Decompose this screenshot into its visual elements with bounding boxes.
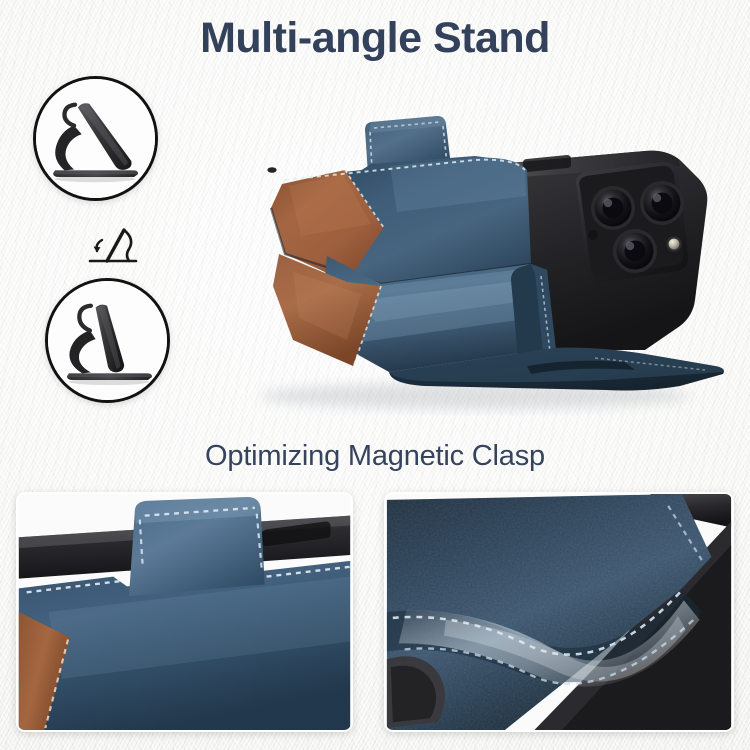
stand-angle-upright-icon [48,281,167,400]
rotation-arrow-glyph [84,224,146,270]
section-subtitle: Optimizing Magnetic Clasp [0,440,750,473]
clasp-tab [129,497,265,596]
leather-grain-detail-panel [384,492,734,732]
stand-angle-upright-inset [45,278,170,403]
leather-grain-detail-image [386,494,732,730]
stand-angle-steep-inset [33,76,158,201]
magnetic-clasp-detail-panel [16,492,353,732]
page-title: Multi-angle Stand [0,14,750,63]
stand-angle-steep-icon [36,79,155,198]
infographic-background: Multi-angle Stand [0,0,750,750]
rotation-arrow-icon [84,224,146,270]
magnetic-clasp-detail-image [18,494,351,730]
hero-illustration [175,104,750,424]
camera-module [576,162,688,282]
phone-case-stand-photo [175,104,750,424]
